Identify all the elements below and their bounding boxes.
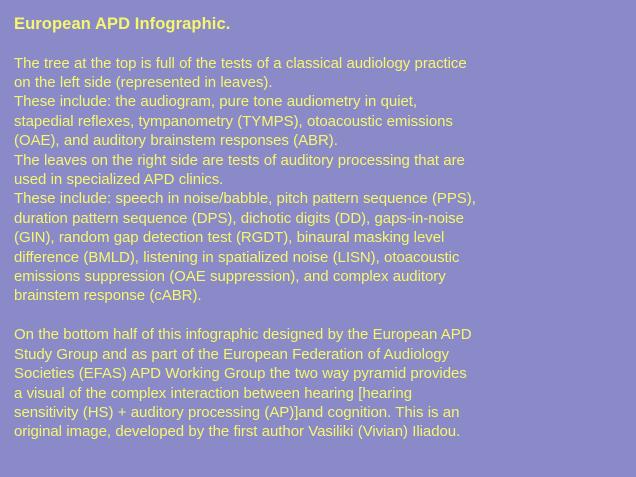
slide-container: European APD Infographic. The tree at th… (0, 0, 636, 477)
paragraph-spacer (14, 306, 628, 326)
page-title: European APD Infographic. (14, 14, 628, 34)
description-paragraph-pyramid: On the bottom half of this infographic d… (14, 325, 628, 441)
description-paragraph-tests: The tree at the top is full of the tests… (14, 54, 628, 306)
title-paragraph-spacer (14, 34, 628, 54)
